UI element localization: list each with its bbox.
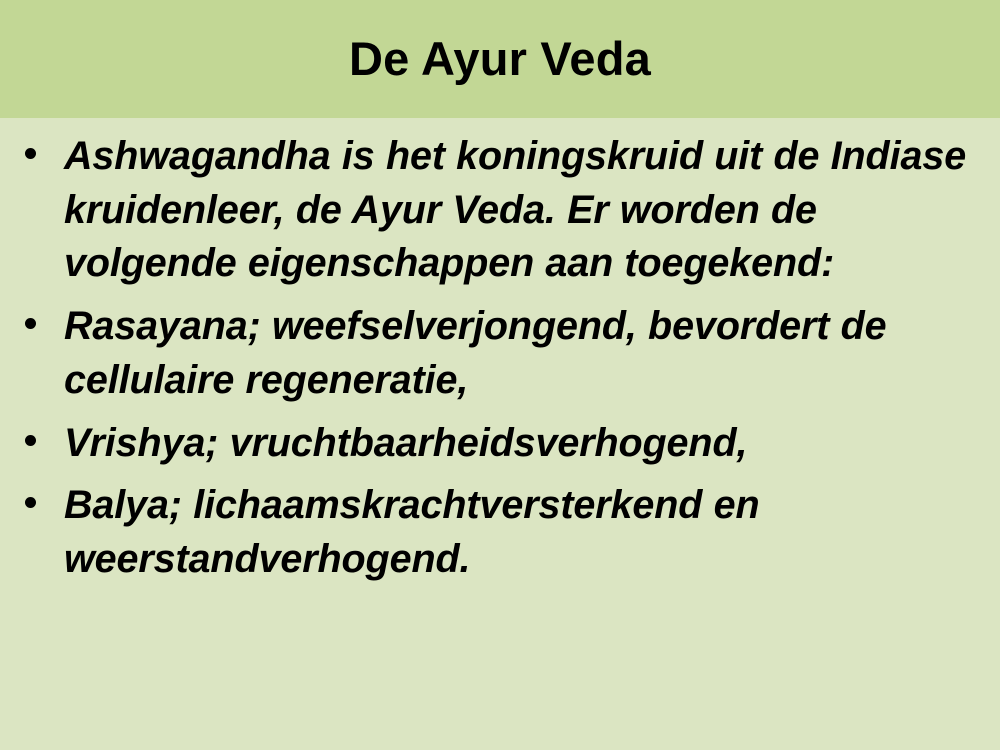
list-item: Vrishya; vruchtbaarheidsverhogend, <box>14 417 970 471</box>
list-item-text: Vrishya; vruchtbaarheidsverhogend, <box>64 417 970 471</box>
list-item: Ashwagandha is het koningskruid uit de I… <box>14 130 970 291</box>
list-item-text: Balya; lichaamskrachtversterkend en weer… <box>64 479 970 586</box>
bullet-dot-icon <box>25 148 36 159</box>
slide-body: Ashwagandha is het koningskruid uit de I… <box>0 118 1000 750</box>
list-item-text: Rasayana; weefselverjongend, bevordert d… <box>64 300 970 407</box>
list-item: Balya; lichaamskrachtversterkend en weer… <box>14 479 970 586</box>
bullet-dot-icon <box>25 497 36 508</box>
bullet-dot-icon <box>25 435 36 446</box>
bullet-list: Ashwagandha is het koningskruid uit de I… <box>14 130 970 587</box>
presentation-slide: De Ayur Veda Ashwagandha is het koningsk… <box>0 0 1000 750</box>
list-item: Rasayana; weefselverjongend, bevordert d… <box>14 300 970 407</box>
bullet-dot-icon <box>25 318 36 329</box>
slide-title-band: De Ayur Veda <box>0 0 1000 118</box>
page-title: De Ayur Veda <box>349 34 651 83</box>
list-item-text: Ashwagandha is het koningskruid uit de I… <box>64 130 970 291</box>
